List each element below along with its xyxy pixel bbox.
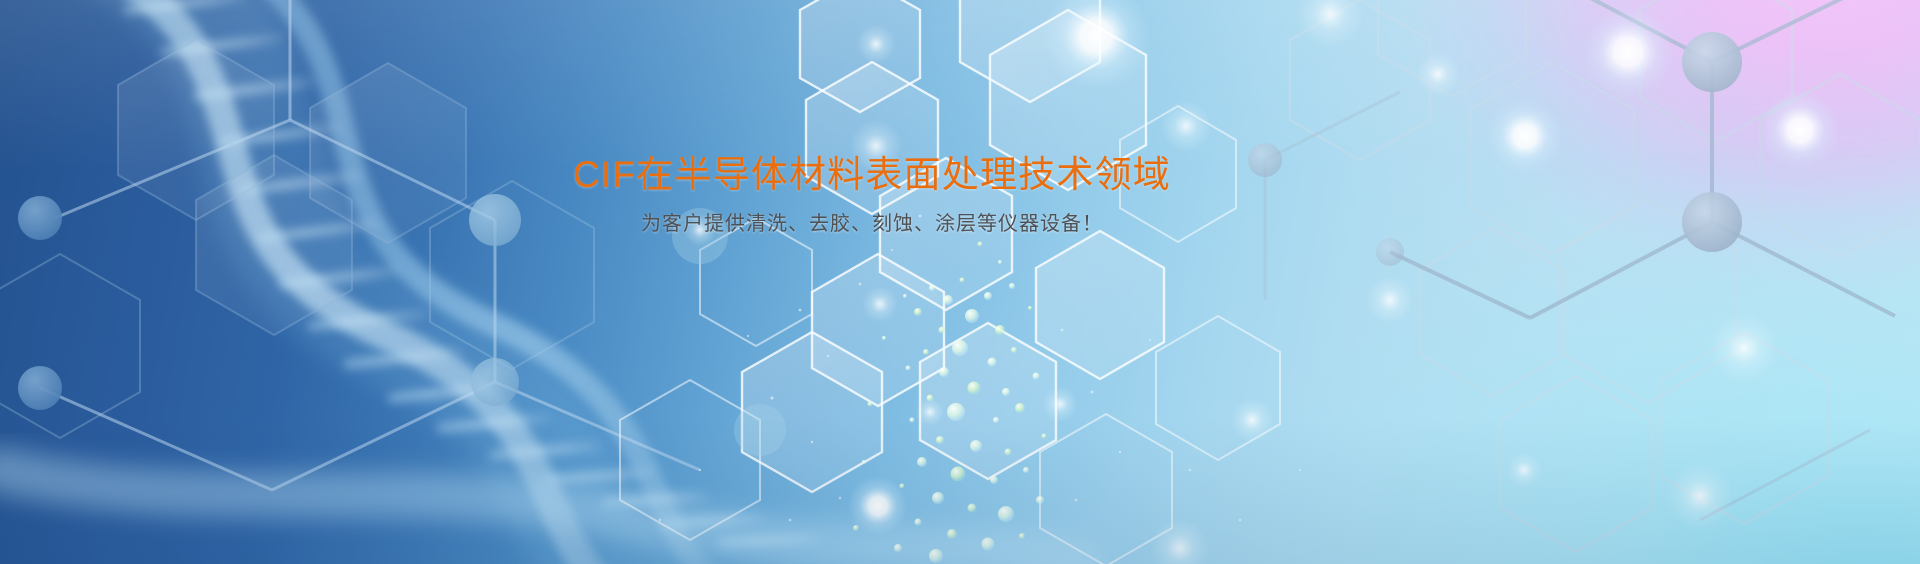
- banner-text-block: CIF在半导体材料表面处理技术领域 为客户提供清洗、去胶、刻蚀、涂层等仪器设备！: [0, 0, 1920, 564]
- bokeh-highlights: [684, 0, 1840, 564]
- background-pink-glow: [0, 0, 1920, 564]
- background-cyan-glow: [0, 0, 1920, 564]
- banner-subheadline: 为客户提供清洗、去胶、刻蚀、涂层等仪器设备！: [641, 211, 1103, 237]
- hexagon-lattice-graphic: [0, 0, 1920, 564]
- banner-headline: CIF在半导体材料表面处理技术领域: [573, 152, 1171, 197]
- background-sheen: [0, 0, 1920, 564]
- micro-dots: [659, 215, 1301, 522]
- molecule-node-group: [18, 194, 521, 410]
- bubble-cluster: [853, 242, 1047, 564]
- background-gradient: [0, 0, 1920, 564]
- particle-cluster-graphic: [0, 0, 1920, 564]
- hero-banner: CIF在半导体材料表面处理技术领域 为客户提供清洗、去胶、刻蚀、涂层等仪器设备！: [0, 0, 1920, 564]
- dna-helix-graphic: [0, 0, 1920, 564]
